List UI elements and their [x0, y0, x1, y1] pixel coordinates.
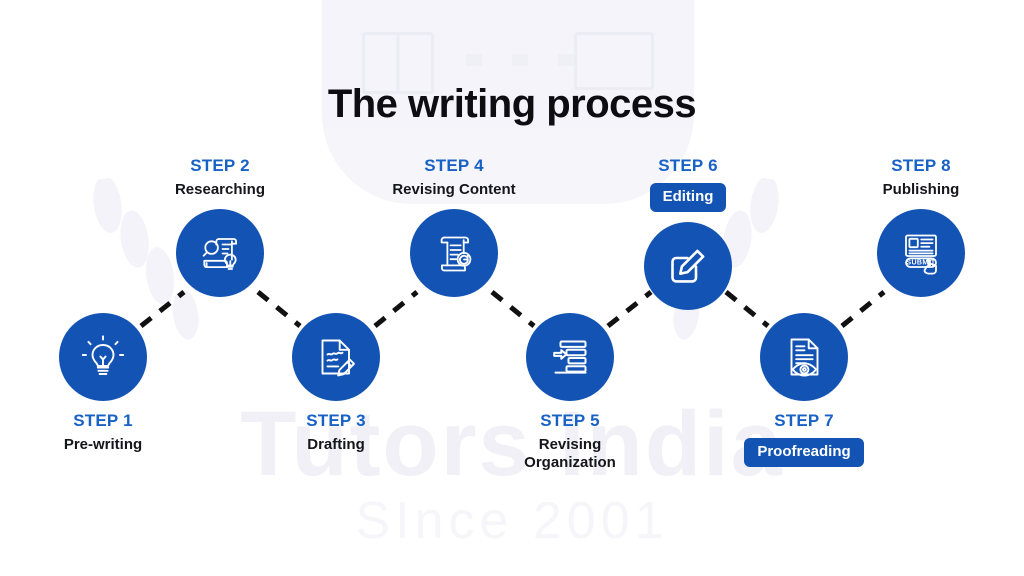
- step-7-circle[interactable]: [760, 313, 848, 401]
- reorder-arrow-lines-icon: [545, 332, 595, 382]
- step-2[interactable]: STEP 2 Researching: [120, 156, 320, 297]
- step-8-name: Publishing: [821, 181, 1021, 199]
- step-5[interactable]: STEP 5 Revising Organization: [470, 313, 670, 472]
- watermark-dot-1-icon: [466, 54, 482, 66]
- watermark-dot-3-icon: [558, 54, 574, 66]
- step-5-number: STEP 5: [470, 411, 670, 431]
- step-4-labels: STEP 4 Revising Content: [354, 156, 554, 199]
- magnifier-document-idea-icon: [194, 227, 246, 279]
- tagline-watermark: SInce 2001: [0, 495, 1024, 547]
- page-title: The writing process: [0, 82, 1024, 127]
- step-5-circle[interactable]: [526, 313, 614, 401]
- step-2-circle[interactable]: [176, 209, 264, 297]
- step-4-name: Revising Content: [354, 181, 554, 199]
- step-1-labels: STEP 1 Pre-writing: [3, 411, 203, 454]
- step-3-circle[interactable]: [292, 313, 380, 401]
- step-3-number: STEP 3: [236, 411, 436, 431]
- step-1-circle[interactable]: [59, 313, 147, 401]
- step-6[interactable]: STEP 6 Editing: [588, 156, 788, 310]
- edit-pencil-square-icon: [663, 241, 713, 291]
- step-6-circle[interactable]: [644, 222, 732, 310]
- step-3[interactable]: STEP 3 Drafting: [236, 313, 436, 454]
- step-2-labels: STEP 2 Researching: [120, 156, 320, 199]
- step-1[interactable]: STEP 1 Pre-writing: [3, 313, 203, 454]
- step-7[interactable]: STEP 7 Proofreading: [704, 313, 904, 467]
- step-4-number: STEP 4: [354, 156, 554, 176]
- submit-article-hand-icon: SUBMIT: [895, 227, 947, 279]
- step-3-name: Drafting: [236, 436, 436, 454]
- step-8-labels: STEP 8 Publishing: [821, 156, 1021, 199]
- step-4-circle[interactable]: [410, 209, 498, 297]
- step-5-labels: STEP 5 Revising Organization: [470, 411, 670, 472]
- step-5-name: Revising Organization: [470, 436, 670, 473]
- step-3-labels: STEP 3 Drafting: [236, 411, 436, 454]
- step-2-name: Researching: [120, 181, 320, 199]
- watermark-dot-2-icon: [512, 54, 528, 66]
- step-2-number: STEP 2: [120, 156, 320, 176]
- step-6-number: STEP 6: [588, 156, 788, 176]
- step-1-name: Pre-writing: [3, 436, 203, 454]
- document-eye-icon: [779, 332, 829, 382]
- lightbulb-icon: [78, 332, 128, 382]
- step-7-labels: STEP 7 Proofreading: [704, 411, 904, 467]
- step-7-number: STEP 7: [704, 411, 904, 431]
- document-pencil-icon: [311, 332, 361, 382]
- step-6-name-badge: Editing: [650, 183, 727, 212]
- step-8[interactable]: STEP 8 Publishing SUBMIT: [821, 156, 1021, 297]
- step-7-name-badge: Proofreading: [744, 438, 863, 467]
- step-1-number: STEP 1: [3, 411, 203, 431]
- infographic-canvas: Tutors India SInce 2001 The writing proc…: [0, 0, 1024, 576]
- scroll-refresh-icon: [428, 227, 480, 279]
- step-6-labels: STEP 6 Editing: [588, 156, 788, 212]
- step-4[interactable]: STEP 4 Revising Content: [354, 156, 554, 297]
- step-8-number: STEP 8: [821, 156, 1021, 176]
- step-8-circle[interactable]: SUBMIT: [877, 209, 965, 297]
